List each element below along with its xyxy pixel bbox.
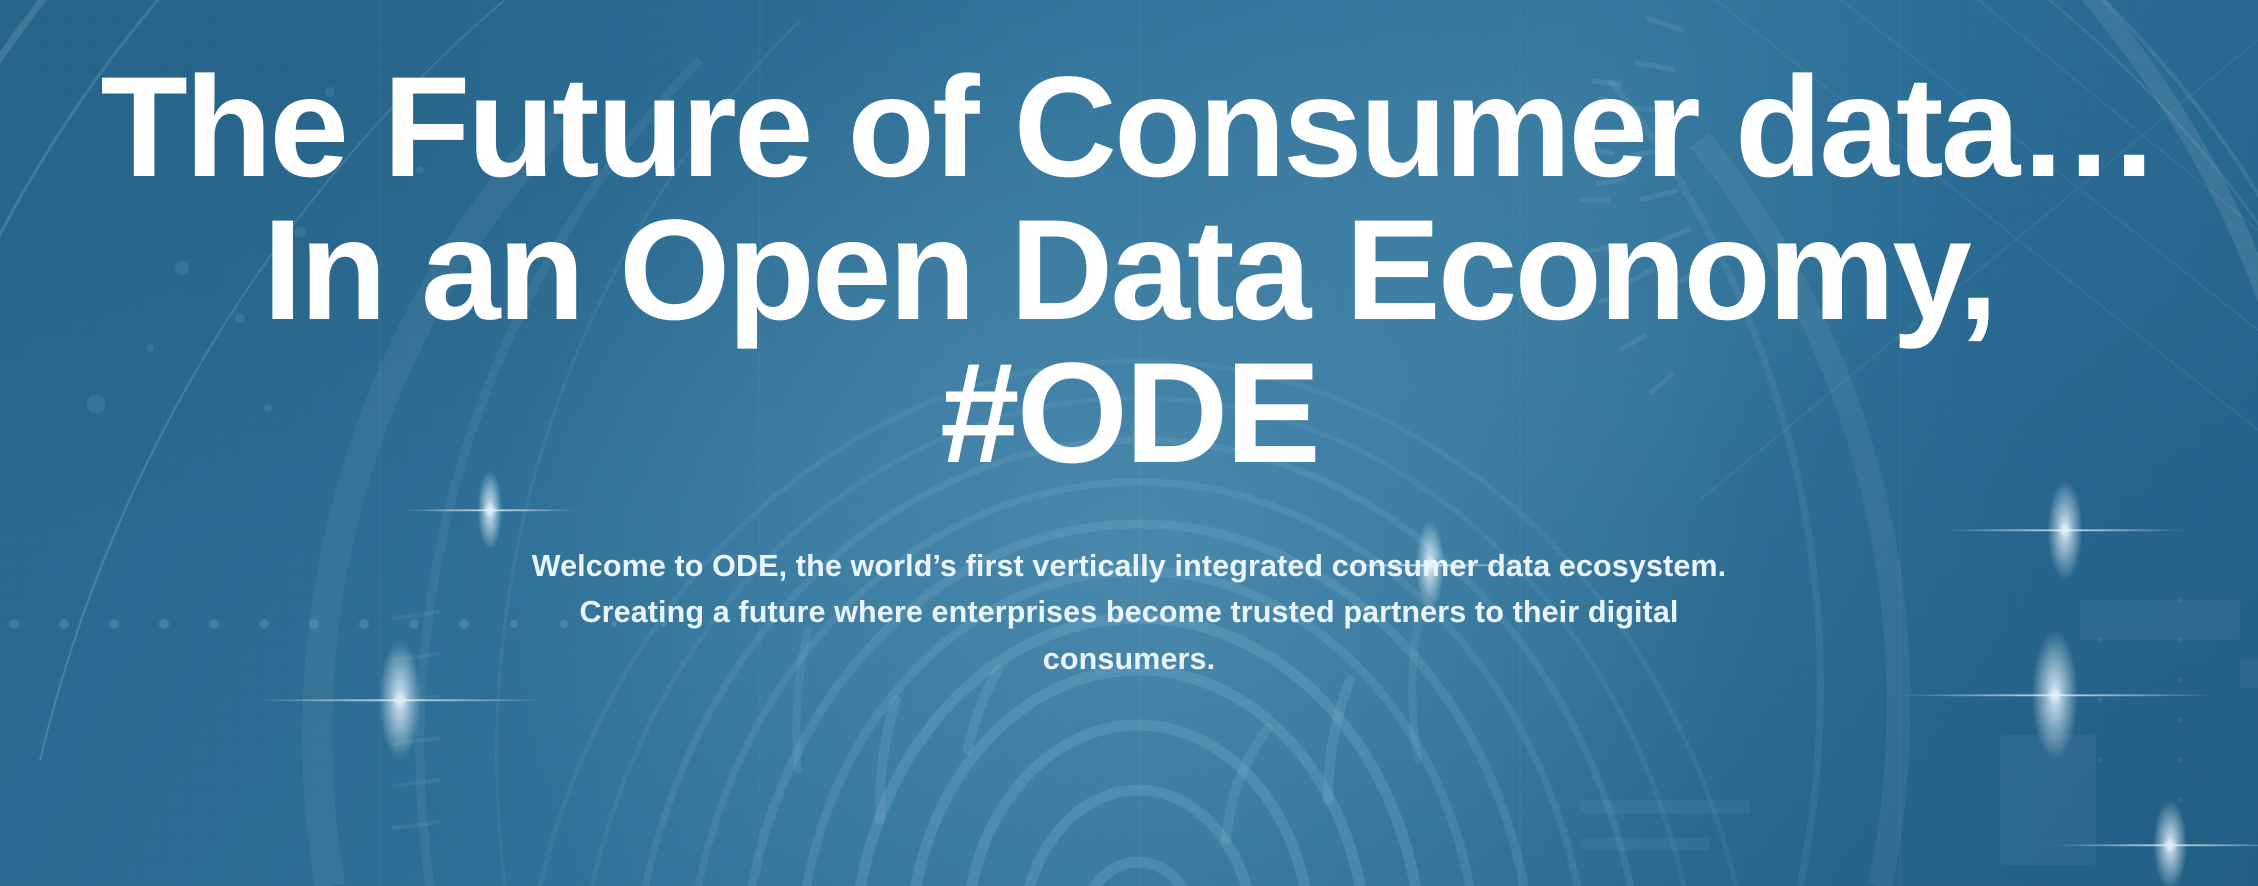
page-title: The Future of Consumer data… In an Open … <box>0 56 2258 485</box>
subcopy-line-2: Creating a future where enterprises beco… <box>579 595 1678 629</box>
headline-line-1: The Future of Consumer data… <box>0 56 2258 199</box>
subcopy-line-3: consumers. <box>1043 642 1215 676</box>
headline-line-3: #ODE <box>0 342 2258 485</box>
headline-line-2: In an Open Data Economy, <box>0 199 2258 342</box>
hero-banner: The Future of Consumer data… In an Open … <box>0 0 2258 886</box>
hero-content: The Future of Consumer data… In an Open … <box>0 0 2258 886</box>
subcopy-line-1: Welcome to ODE, the world’s first vertic… <box>532 549 1727 583</box>
hero-subcopy: Welcome to ODE, the world’s first vertic… <box>499 543 1759 682</box>
